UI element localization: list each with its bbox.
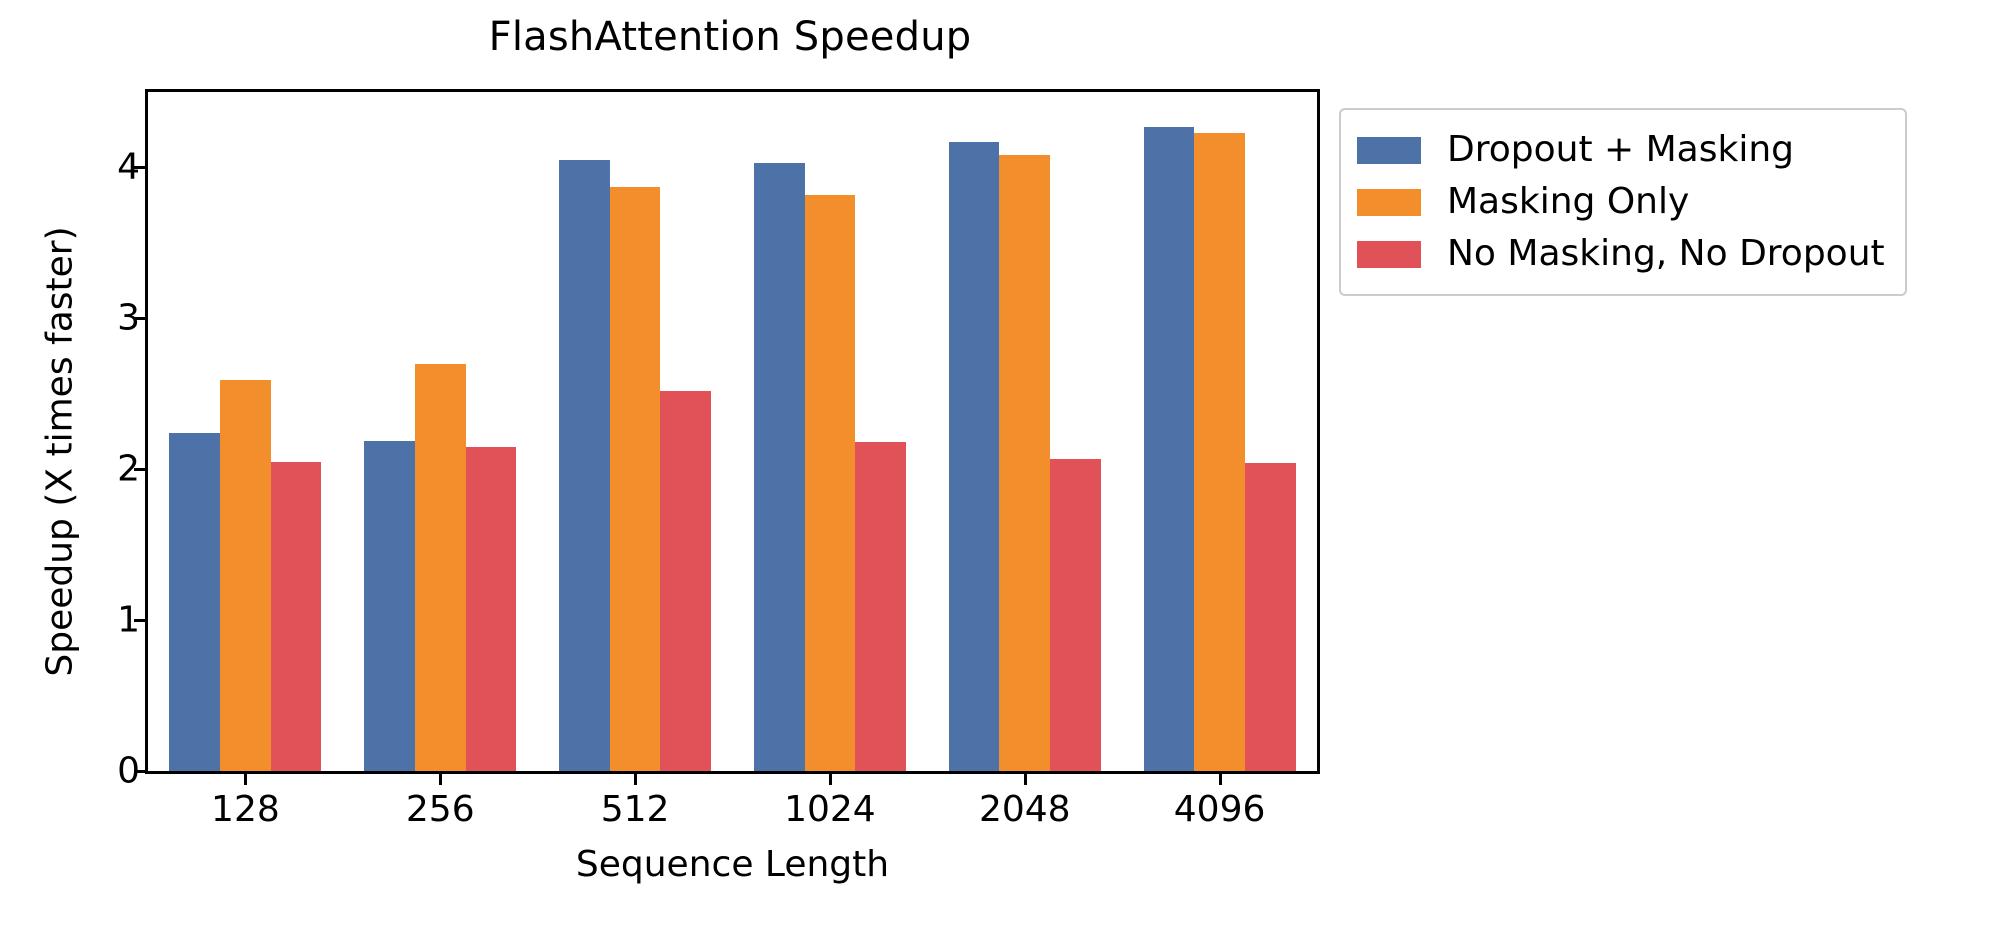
x-axis-tick-label: 1024 (730, 789, 930, 830)
bar (949, 142, 1000, 771)
bar (415, 364, 466, 771)
bar (610, 187, 661, 771)
legend-label: No Masking, No Dropout (1447, 236, 1885, 272)
bar (1144, 127, 1195, 771)
chart-legend: Dropout + Masking Masking Only No Maskin… (1339, 108, 1907, 296)
legend-swatch-masking-only (1357, 189, 1421, 216)
bar (1245, 463, 1296, 771)
x-axis-tick-label: 4096 (1120, 789, 1320, 830)
x-axis-tick-mark (1219, 774, 1222, 785)
bar (220, 380, 271, 771)
bar (271, 462, 322, 771)
chart-title: FlashAttention Speedup (140, 14, 1320, 60)
bar (754, 163, 805, 771)
legend-swatch-dropout-masking (1357, 137, 1421, 164)
x-axis-tick-mark (1024, 774, 1027, 785)
y-axis-tick-label: 4 (0, 147, 140, 188)
x-axis-tick-mark (829, 774, 832, 785)
legend-item[interactable]: Dropout + Masking (1357, 124, 1885, 176)
bar (1194, 133, 1245, 771)
x-axis-tick-label: 512 (535, 789, 735, 830)
y-axis-tick-label: 1 (0, 600, 140, 641)
x-axis-tick-mark (439, 774, 442, 785)
bar (1050, 459, 1101, 771)
bar (805, 195, 856, 771)
y-axis-tick-label: 2 (0, 449, 140, 490)
bar (364, 441, 415, 771)
x-axis-tick-label: 2048 (925, 789, 1125, 830)
bar (466, 447, 517, 771)
bar (660, 391, 711, 771)
x-axis-label: Sequence Length (145, 844, 1320, 885)
y-axis-tick-label: 3 (0, 298, 140, 339)
y-axis-tick-mark (134, 317, 145, 320)
bar (559, 160, 610, 771)
y-axis-tick-mark (134, 619, 145, 622)
x-axis-tick-mark (634, 774, 637, 785)
legend-item[interactable]: No Masking, No Dropout (1357, 228, 1885, 280)
x-axis-tick-label: 128 (145, 789, 345, 830)
bar (999, 155, 1050, 771)
bar (855, 442, 906, 771)
x-axis-tick-label: 256 (340, 789, 540, 830)
y-axis-tick-mark (134, 770, 145, 773)
legend-item[interactable]: Masking Only (1357, 176, 1885, 228)
legend-label: Masking Only (1447, 184, 1689, 220)
chart-figure: FlashAttention Speedup Speedup (X times … (0, 0, 2013, 932)
y-axis-tick-mark (134, 468, 145, 471)
y-axis-tick-mark (134, 166, 145, 169)
x-axis-tick-mark (244, 774, 247, 785)
legend-label: Dropout + Masking (1447, 132, 1794, 168)
bar (169, 433, 220, 771)
legend-swatch-no-masking-no-dropout (1357, 241, 1421, 268)
plot-area (148, 92, 1317, 771)
y-axis-tick-label: 0 (0, 751, 140, 792)
